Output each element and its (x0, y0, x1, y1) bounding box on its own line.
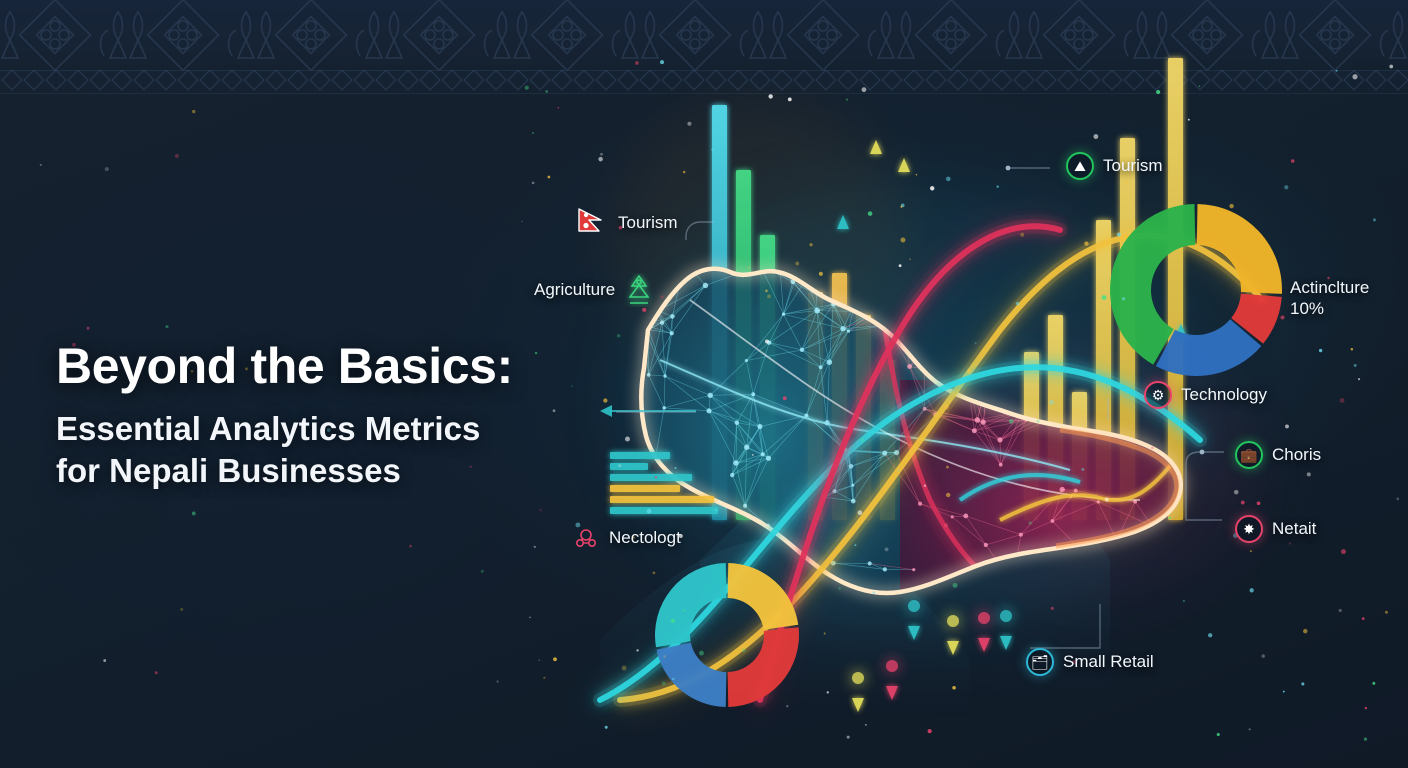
particle (1188, 119, 1190, 121)
mini-bar (610, 474, 692, 481)
particle (1364, 737, 1367, 740)
particle (944, 404, 949, 409)
particle (660, 60, 664, 64)
mesh-node (706, 408, 711, 413)
particle (899, 264, 902, 267)
mesh-node (1019, 533, 1023, 537)
particle (765, 339, 769, 343)
particle (928, 729, 932, 733)
arrow-node (978, 612, 990, 624)
nepal-flag-icon (575, 206, 609, 240)
mesh-node (882, 451, 887, 456)
particle (1303, 629, 1307, 633)
particle (1156, 90, 1160, 94)
mesh-node (951, 515, 954, 518)
particle (898, 470, 900, 472)
particle (532, 182, 535, 185)
particle (748, 267, 750, 269)
particle (767, 295, 771, 299)
banner-canvas: Beyond the Basics: Essential Analytics M… (0, 0, 1408, 768)
particle (662, 681, 666, 685)
mesh-node (1050, 519, 1054, 523)
mesh-node (918, 502, 922, 506)
label-text: Tourism (618, 213, 678, 233)
particle (103, 659, 106, 662)
arrow-node (852, 672, 864, 684)
particle (768, 94, 772, 98)
arrow-node (908, 600, 920, 612)
particle (653, 571, 656, 574)
particle (165, 325, 168, 328)
technology-icon (572, 524, 600, 552)
particle (855, 544, 857, 546)
particle (545, 90, 548, 93)
particle (1291, 159, 1295, 163)
particle (1301, 682, 1304, 685)
mesh-node (733, 460, 738, 465)
particle (175, 154, 179, 158)
mesh-node (883, 567, 887, 571)
mesh-node (840, 326, 845, 331)
mesh-node (963, 514, 968, 519)
particle (1262, 654, 1265, 657)
mesh-node (708, 393, 713, 398)
particle (1102, 295, 1107, 300)
particle (715, 509, 717, 511)
mesh-node (923, 407, 927, 411)
particle (952, 686, 956, 690)
particle (600, 153, 603, 156)
particle (1341, 549, 1346, 554)
mesh-node (1163, 595, 1167, 599)
particle (1151, 447, 1154, 450)
particle (105, 167, 109, 171)
particle (1257, 501, 1261, 505)
particle (663, 655, 665, 657)
particle (598, 157, 602, 161)
label-text: Small Retail (1063, 652, 1154, 672)
mesh-node (766, 456, 771, 461)
mesh-node (814, 308, 820, 314)
mesh-node (999, 463, 1003, 467)
particle (1250, 588, 1254, 592)
particle (699, 651, 704, 656)
particle (953, 583, 958, 588)
particle (617, 334, 621, 338)
mesh-node (663, 374, 666, 377)
mesh-node (800, 348, 804, 352)
mini-bar (610, 452, 670, 459)
particle (1285, 424, 1289, 428)
particle (944, 523, 948, 527)
mesh-node (662, 406, 666, 410)
label-text: Choris (1272, 445, 1321, 465)
particle (618, 464, 621, 467)
mesh-node (670, 314, 675, 319)
particle (635, 61, 639, 65)
particle (900, 237, 905, 242)
particle (819, 272, 823, 276)
particle (622, 666, 627, 671)
particle (521, 220, 523, 222)
particle (827, 691, 829, 693)
particle (481, 570, 484, 573)
technology-icon: ⚙ (1144, 381, 1172, 409)
particle (553, 657, 557, 661)
mesh-node (647, 373, 651, 377)
annotation-value: 10% (1290, 299, 1324, 318)
mesh-node (894, 450, 899, 455)
mesh-node (735, 420, 740, 425)
particle (860, 438, 864, 442)
particle (1084, 241, 1088, 245)
particle (967, 369, 971, 373)
particle (1234, 490, 1239, 495)
particle (783, 396, 787, 400)
mesh-node (670, 331, 674, 335)
mesh-node (851, 499, 856, 504)
particle (1362, 617, 1365, 620)
particle (862, 87, 867, 92)
particle (930, 186, 934, 190)
particle (795, 262, 799, 266)
particle (192, 110, 195, 113)
particle (1365, 707, 1367, 709)
particle (1352, 74, 1357, 79)
particle (636, 649, 638, 651)
mesh-node (757, 424, 762, 429)
annotation-text: Actinclture 10% (1290, 278, 1369, 319)
particle (946, 177, 951, 182)
particle (1372, 682, 1375, 685)
particle (900, 206, 902, 208)
particle (1028, 521, 1031, 524)
particle (1049, 400, 1054, 405)
mesh-node (868, 561, 872, 565)
particle (1385, 611, 1388, 614)
particle (946, 466, 949, 469)
particle (40, 164, 42, 166)
mesh-node (972, 428, 977, 433)
particle (1126, 181, 1128, 183)
subtitle-line-2: for Nepali Businesses (56, 450, 616, 492)
particle (711, 148, 714, 151)
label-agriculture-left: Agriculture (534, 273, 654, 307)
subtitle-line-1: Essential Analytics Metrics (56, 408, 616, 450)
label-small-retail: 🗂 Small Retail (1026, 648, 1154, 676)
agriculture-icon (624, 273, 654, 307)
particle (1397, 498, 1400, 501)
particle (858, 510, 863, 515)
particle (975, 342, 977, 344)
particle (742, 648, 746, 652)
arrow-head (898, 158, 910, 172)
briefcase-icon: 💼 (1235, 441, 1263, 469)
label-text: Tourism (1103, 156, 1163, 176)
mesh-node (743, 504, 747, 508)
mesh-node (782, 312, 785, 315)
page-title: Beyond the Basics: (56, 340, 616, 392)
particle (924, 485, 926, 487)
particle (1340, 398, 1345, 403)
particle (192, 512, 196, 516)
particle (557, 107, 559, 109)
particle (87, 327, 90, 330)
mini-bar (610, 485, 680, 492)
mesh-node (847, 330, 850, 333)
particle (1168, 517, 1170, 519)
particle (672, 678, 674, 680)
particle (548, 176, 551, 179)
particle (1307, 472, 1311, 476)
particle (532, 132, 534, 134)
mesh-node (1074, 489, 1078, 493)
particle (1105, 498, 1109, 502)
arrow-node (886, 660, 898, 672)
arrow-node (947, 615, 959, 627)
particle (838, 587, 840, 589)
mesh-node (1060, 487, 1065, 492)
particle (997, 185, 999, 187)
mesh-node (981, 420, 986, 425)
particle (687, 122, 691, 126)
bar (1168, 58, 1183, 520)
mesh-node (761, 452, 765, 456)
label-netait: ✸ Netait (1235, 515, 1316, 543)
particle (1249, 728, 1251, 730)
particle (1339, 609, 1342, 612)
mesh-node (664, 565, 669, 570)
donut-chart-right (1110, 204, 1282, 376)
particle (909, 258, 910, 259)
particle (525, 86, 529, 90)
particle (1358, 378, 1360, 380)
particle (788, 97, 792, 101)
particle (1354, 364, 1357, 367)
particle (543, 677, 545, 679)
mesh-node (997, 437, 1002, 442)
particle (647, 509, 652, 514)
particle (1241, 501, 1245, 505)
particle (529, 616, 531, 618)
particle (642, 308, 646, 312)
particle (671, 619, 675, 623)
particle (1335, 70, 1337, 72)
particle (873, 591, 876, 594)
mesh-node (907, 364, 912, 369)
particle (1051, 607, 1054, 610)
particle (809, 243, 812, 246)
network-icon: ✸ (1235, 515, 1263, 543)
mesh-node (703, 283, 709, 289)
annotation-label: Actinclture (1290, 278, 1369, 297)
particle (1117, 233, 1121, 237)
particle (1122, 297, 1125, 300)
particle (605, 726, 608, 729)
label-text: Technology (1181, 385, 1267, 405)
label-nectologt: Nectologt (572, 524, 681, 552)
particle (1199, 85, 1201, 87)
mesh-node (744, 445, 749, 450)
mesh-node (975, 417, 981, 423)
particle (660, 295, 663, 298)
particle (916, 174, 918, 176)
particle (683, 609, 685, 611)
particle (1280, 315, 1284, 319)
particle (683, 171, 686, 174)
particle (1020, 233, 1024, 237)
label-choris: 💼 Choris (1235, 441, 1321, 469)
particle (534, 546, 536, 548)
particle (846, 99, 848, 101)
particle (1389, 65, 1393, 69)
label-tourism-ring: ⛰ Tourism (1066, 152, 1163, 180)
mesh-node (849, 464, 854, 469)
label-text: Nectologt (609, 528, 681, 548)
particle (1093, 134, 1098, 139)
particle (1183, 600, 1185, 602)
particle (539, 509, 542, 512)
particle (847, 736, 850, 739)
mesh-node (730, 473, 734, 477)
mesh-node (745, 359, 748, 362)
particle (1217, 733, 1220, 736)
label-tourism-flag: Tourism (575, 206, 678, 240)
particle (1283, 691, 1285, 693)
annotation-agriculture: Actinclture 10% (1290, 278, 1369, 319)
particle (752, 454, 754, 456)
mesh-node (827, 359, 833, 365)
tourism-icon: ⛰ (1066, 152, 1094, 180)
particle (1009, 419, 1013, 423)
particle (155, 671, 158, 674)
particle (1319, 349, 1322, 352)
particle (1229, 204, 1233, 208)
label-text: Netait (1272, 519, 1316, 539)
title-block: Beyond the Basics: Essential Analytics M… (56, 340, 616, 492)
store-icon: 🗂 (1026, 648, 1054, 676)
particle (1284, 185, 1288, 189)
particle (675, 467, 677, 469)
particle (868, 211, 873, 216)
label-text: Agriculture (534, 280, 615, 300)
particle (697, 501, 699, 503)
particle (824, 633, 826, 635)
page-subtitle: Essential Analytics Metrics for Nepali B… (56, 408, 616, 492)
particle (865, 724, 867, 726)
particle (885, 548, 889, 552)
mini-bar (610, 507, 718, 514)
particle (946, 493, 950, 497)
particle (765, 290, 768, 293)
mesh-node (984, 543, 988, 547)
particle (1208, 633, 1212, 637)
particle (409, 545, 412, 548)
particle (1250, 550, 1252, 552)
particle (1373, 218, 1376, 221)
particle (180, 608, 183, 611)
mesh-node (751, 392, 755, 396)
particle (625, 437, 630, 442)
mesh-node (660, 320, 664, 324)
particle (1081, 468, 1084, 471)
particle (496, 680, 498, 682)
particle (1016, 302, 1019, 305)
label-technology: ⚙ Technology (1144, 381, 1267, 409)
arrow-node (1000, 610, 1012, 622)
particle (1036, 420, 1039, 423)
particle (538, 659, 540, 661)
particle (655, 476, 657, 478)
particle (786, 705, 788, 707)
particle (1351, 348, 1353, 350)
mesh-node (1097, 500, 1100, 503)
mesh-node (819, 365, 823, 369)
mesh-node (851, 484, 854, 487)
